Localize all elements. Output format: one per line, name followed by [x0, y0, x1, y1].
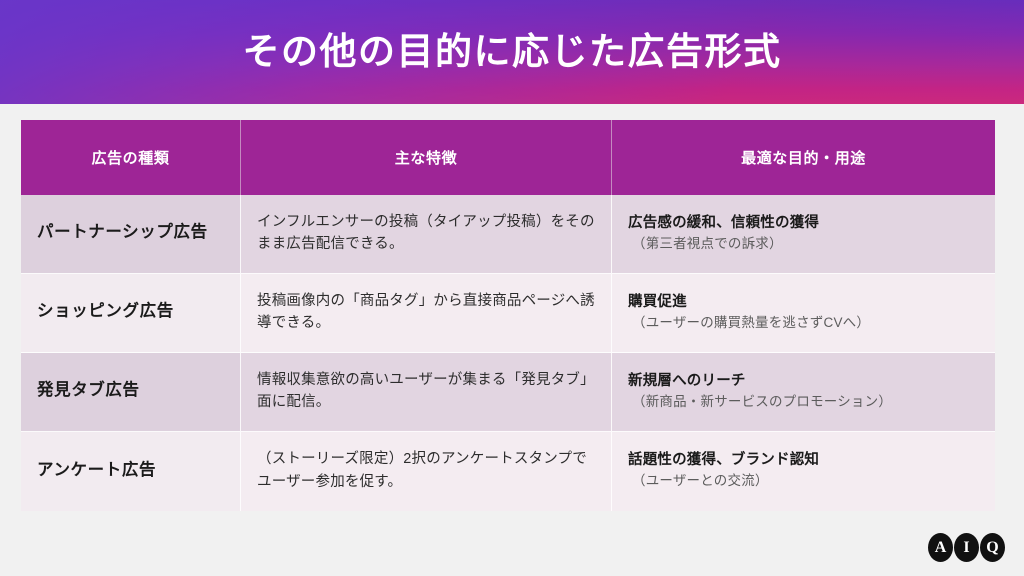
- main-feature-text: （ストーリーズ限定）2択のアンケートスタンプでユーザー参加を促す。: [257, 448, 595, 493]
- purpose-main-text: 購買促進: [628, 292, 979, 313]
- cell-ad-type: ショッピング広告: [21, 274, 241, 353]
- cell-ad-type: パートナーシップ広告: [21, 195, 241, 274]
- column-header-ad-type: 広告の種類: [21, 120, 241, 195]
- purpose-sub-text: （新商品・新サービスのプロモーション）: [628, 392, 979, 412]
- ad-type-label: 発見タブ広告: [37, 380, 224, 401]
- purpose-main-text: 新規層へのリーチ: [628, 371, 979, 392]
- cell-best-purpose: 新規層へのリーチ （新商品・新サービスのプロモーション）: [612, 353, 995, 432]
- ad-type-label: ショッピング広告: [37, 301, 224, 322]
- purpose-main-text: 話題性の獲得、ブランド認知: [628, 450, 979, 471]
- cell-best-purpose: 話題性の獲得、ブランド認知 （ユーザーとの交流）: [612, 432, 995, 511]
- cell-main-feature: インフルエンサーの投稿（タイアップ投稿）をそのまま広告配信できる。: [241, 195, 612, 274]
- header-banner: その他の目的に応じた広告形式: [0, 0, 1024, 104]
- ad-format-table-container: 広告の種類 主な特徴 最適な目的・用途 パートナーシップ広告 インフルエンサーの…: [21, 120, 995, 511]
- table-row: 発見タブ広告 情報収集意欲の高いユーザーが集まる「発見タブ」面に配信。 新規層へ…: [21, 353, 995, 432]
- purpose-sub-text: （第三者視点での訴求）: [628, 234, 979, 254]
- cell-main-feature: （ストーリーズ限定）2択のアンケートスタンプでユーザー参加を促す。: [241, 432, 612, 511]
- table-row: ショッピング広告 投稿画像内の「商品タグ」から直接商品ページへ誘導できる。 購買…: [21, 274, 995, 353]
- main-feature-text: インフルエンサーの投稿（タイアップ投稿）をそのまま広告配信できる。: [257, 211, 595, 256]
- cell-best-purpose: 購買促進 （ユーザーの購買熱量を逃さずCVへ）: [612, 274, 995, 353]
- cell-main-feature: 投稿画像内の「商品タグ」から直接商品ページへ誘導できる。: [241, 274, 612, 353]
- main-feature-text: 投稿画像内の「商品タグ」から直接商品ページへ誘導できる。: [257, 290, 595, 335]
- cell-best-purpose: 広告感の緩和、信頼性の獲得 （第三者視点での訴求）: [612, 195, 995, 274]
- cell-main-feature: 情報収集意欲の高いユーザーが集まる「発見タブ」面に配信。: [241, 353, 612, 432]
- cell-ad-type: アンケート広告: [21, 432, 241, 511]
- logo-letter-a: A: [928, 533, 953, 562]
- logo-letter-i: I: [954, 533, 979, 562]
- table-header-row: 広告の種類 主な特徴 最適な目的・用途: [21, 120, 995, 195]
- cell-ad-type: 発見タブ広告: [21, 353, 241, 432]
- purpose-main-text: 広告感の緩和、信頼性の獲得: [628, 213, 979, 234]
- main-feature-text: 情報収集意欲の高いユーザーが集まる「発見タブ」面に配信。: [257, 369, 595, 414]
- purpose-sub-text: （ユーザーとの交流）: [628, 471, 979, 491]
- ad-format-table: 広告の種類 主な特徴 最適な目的・用途 パートナーシップ広告 インフルエンサーの…: [21, 120, 995, 511]
- table-row: パートナーシップ広告 インフルエンサーの投稿（タイアップ投稿）をそのまま広告配信…: [21, 195, 995, 274]
- aiq-logo: A I Q: [928, 533, 1005, 562]
- table-row: アンケート広告 （ストーリーズ限定）2択のアンケートスタンプでユーザー参加を促す…: [21, 432, 995, 511]
- table-body: パートナーシップ広告 インフルエンサーの投稿（タイアップ投稿）をそのまま広告配信…: [21, 195, 995, 511]
- logo-letter-q: Q: [980, 533, 1005, 562]
- purpose-sub-text: （ユーザーの購買熱量を逃さずCVへ）: [628, 313, 979, 333]
- table-header: 広告の種類 主な特徴 最適な目的・用途: [21, 120, 995, 195]
- column-header-main-feature: 主な特徴: [241, 120, 612, 195]
- column-header-best-purpose: 最適な目的・用途: [612, 120, 995, 195]
- ad-type-label: アンケート広告: [37, 460, 224, 481]
- page-title: その他の目的に応じた広告形式: [243, 33, 782, 72]
- ad-type-label: パートナーシップ広告: [37, 222, 224, 243]
